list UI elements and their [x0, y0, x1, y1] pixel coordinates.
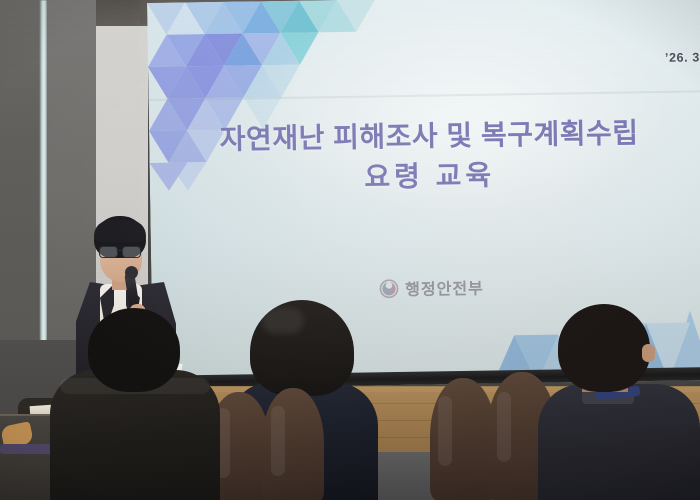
- audience-head: [558, 304, 650, 392]
- audience-ear: [642, 344, 655, 362]
- slide-title-line-2: 요령 교육: [149, 152, 700, 201]
- vertical-light-strip: [40, 0, 47, 350]
- slide-date: ’26. 3.: [665, 50, 700, 65]
- audience-member-right: [530, 304, 700, 500]
- slide-title-line-1: 자연재난 피해조사 및 복구계획수립: [220, 117, 639, 155]
- mouse-pad: [0, 444, 52, 454]
- hair-highlight: [262, 308, 304, 334]
- slide-title: 자연재난 피해조사 및 복구계획수립 요령 교육: [149, 112, 700, 200]
- presenter-hair-top: [94, 220, 146, 242]
- wall-panel-left: [0, 0, 40, 340]
- taegeuk-emblem-icon: [379, 279, 398, 298]
- eyeglasses-icon: [99, 246, 143, 256]
- chair: [262, 388, 324, 500]
- audience-head: [88, 308, 180, 392]
- screenshot-root: ’26. 3. 자연재난 피해조사 및 복구계획수립 요령 교육 행정안전부: [0, 0, 700, 500]
- ministry-logo-text: 행정안전부: [405, 275, 484, 300]
- audience-member-left: [50, 308, 220, 500]
